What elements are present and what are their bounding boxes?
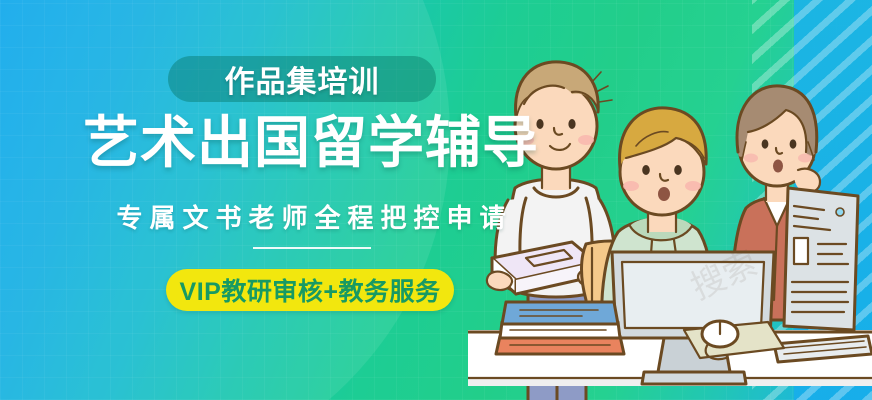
promo-banner: .ln{fill:none;stroke:#6B4A22;stroke-widt… (0, 0, 872, 400)
cta-button[interactable]: VIP教研审核+教务服务 (166, 269, 454, 311)
cta-label: VIP教研审核+教务服务 (180, 272, 441, 308)
course-type-badge: 作品集培训 (168, 56, 436, 102)
text-divider (253, 247, 371, 249)
banner-text-block: 作品集培训 艺术出国留学辅导 专属文书老师全程把控申请 VIP教研审核+教务服务 (0, 0, 540, 400)
badge-label: 作品集培训 (225, 57, 380, 101)
page-title: 艺术出国留学辅导 (76, 112, 546, 174)
banner-subtitle: 专属文书老师全程把控申请 (76, 198, 546, 235)
pc-tower (784, 188, 858, 330)
